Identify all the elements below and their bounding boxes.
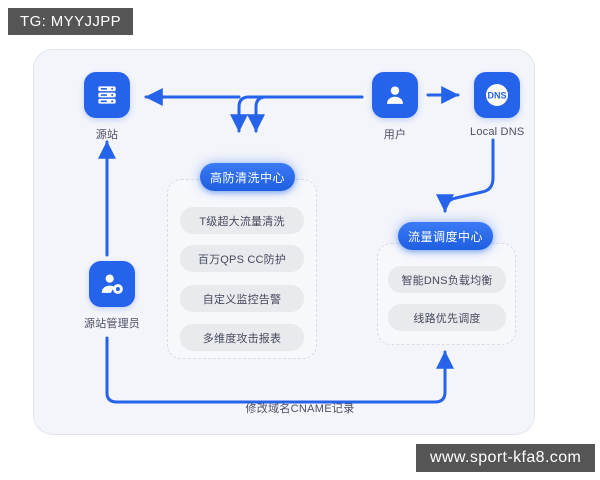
diagram-canvas: 源站 用户 DNS Local DNS 源站管理 [0,0,600,480]
node-origin-label: 源站 [96,126,118,142]
feature-chip[interactable]: 自定义监控告警 [180,285,304,312]
node-admin[interactable]: 源站管理员 [84,261,140,331]
watermark-bottom-right: www.sport-kfa8.com [416,444,595,472]
node-local-dns[interactable]: DNS Local DNS [470,72,524,138]
watermark-top-left: TG: MYYJJPP [8,8,133,35]
dns-badge-icon: DNS [474,72,520,118]
group-title-traffic-scheduling[interactable]: 流量调度中心 [398,222,493,250]
feature-chip[interactable]: 智能DNS负载均衡 [388,266,506,293]
node-user-label: 用户 [384,126,406,142]
node-origin[interactable]: 源站 [84,72,130,142]
user-icon [372,72,418,118]
feature-chip[interactable]: 百万QPS CC防护 [180,245,304,272]
feature-chip[interactable]: 多维度攻击报表 [180,324,304,351]
feature-chip[interactable]: 线路优先调度 [388,304,506,331]
user-gear-icon [89,261,135,307]
node-local-dns-label: Local DNS [470,126,524,138]
group-title-scrubbing-center[interactable]: 高防清洗中心 [200,163,295,191]
node-admin-label: 源站管理员 [84,315,140,331]
server-stack-icon [84,72,130,118]
cname-caption: 修改域名CNAME记录 [0,400,600,416]
node-user[interactable]: 用户 [372,72,418,142]
svg-text:DNS: DNS [488,91,507,101]
feature-chip[interactable]: T级超大流量清洗 [180,207,304,234]
